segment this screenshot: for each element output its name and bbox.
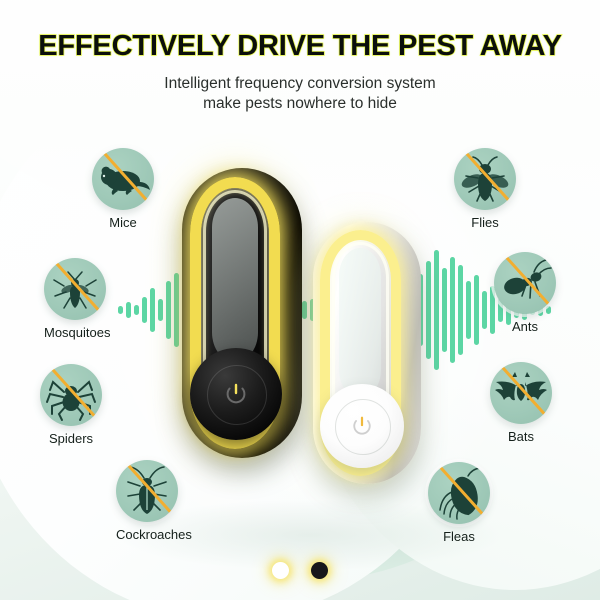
pest-label: Spiders — [40, 431, 102, 446]
pest-label: Mice — [92, 215, 154, 230]
sound-wave-bar — [166, 281, 171, 339]
page-title: EFFECTIVELY DRIVE THE PEST AWAY — [0, 30, 600, 63]
sound-wave-bar — [450, 257, 455, 363]
spider-icon — [40, 364, 102, 426]
pest-badge-fleas[interactable]: Fleas — [428, 462, 490, 544]
color-swatch-black[interactable] — [311, 562, 328, 579]
sound-wave-bar — [466, 281, 471, 339]
pest-label: Flies — [454, 215, 516, 230]
pest-badge-flies[interactable]: Flies — [454, 148, 516, 230]
subtitle-line-1: Intelligent frequency conversion system — [0, 74, 600, 94]
sound-wave-bar — [174, 273, 179, 347]
pest-badge-mice[interactable]: Mice — [92, 148, 154, 230]
sound-wave-bar — [458, 265, 463, 355]
sound-wave-bar — [302, 301, 307, 319]
sound-wave-bar — [158, 299, 163, 321]
power-icon[interactable] — [350, 413, 374, 439]
ant-icon — [494, 252, 556, 314]
pest-badge-ants[interactable]: Ants — [494, 252, 556, 334]
pest-badge-mosquitoes[interactable]: Mosquitoes — [44, 258, 110, 340]
mouse-icon — [92, 148, 154, 210]
sound-wave-bar — [150, 288, 155, 332]
sound-wave-bar — [482, 291, 487, 329]
power-icon[interactable] — [223, 380, 249, 408]
sound-wave-bar — [442, 268, 447, 352]
fly-icon — [454, 148, 516, 210]
pest-badge-bats[interactable]: Bats — [490, 362, 552, 444]
flea-icon — [428, 462, 490, 524]
pest-label: Fleas — [428, 529, 490, 544]
sound-wave-bar — [434, 250, 439, 370]
pest-badge-cockroaches[interactable]: Cockroaches — [116, 460, 192, 542]
color-option-list — [0, 562, 600, 579]
sound-wave-bar — [142, 297, 147, 323]
color-swatch-white[interactable] — [272, 562, 289, 579]
device-base — [190, 348, 282, 440]
pest-label: Cockroaches — [116, 527, 192, 542]
page-subtitle: Intelligent frequency conversion system … — [0, 74, 600, 114]
cockroach-icon — [116, 460, 178, 522]
pest-label: Bats — [490, 429, 552, 444]
sound-wave-bar — [118, 306, 123, 314]
pest-label: Ants — [494, 319, 556, 334]
repeller-device-white[interactable] — [313, 222, 421, 484]
repeller-device-black[interactable] — [182, 168, 302, 458]
sound-wave-bar — [474, 275, 479, 345]
product-infographic: EFFECTIVELY DRIVE THE PEST AWAY Intellig… — [0, 0, 600, 600]
pest-badge-spiders[interactable]: Spiders — [40, 364, 102, 446]
sound-wave-bar — [126, 302, 131, 318]
sound-wave-bar — [426, 261, 431, 359]
subtitle-line-2: make pests nowhere to hide — [0, 94, 600, 114]
device-base — [320, 384, 404, 468]
pest-label: Mosquitoes — [44, 325, 110, 340]
bat-icon — [490, 362, 552, 424]
mosquito-icon — [44, 258, 106, 320]
sound-wave-bar — [134, 305, 139, 315]
